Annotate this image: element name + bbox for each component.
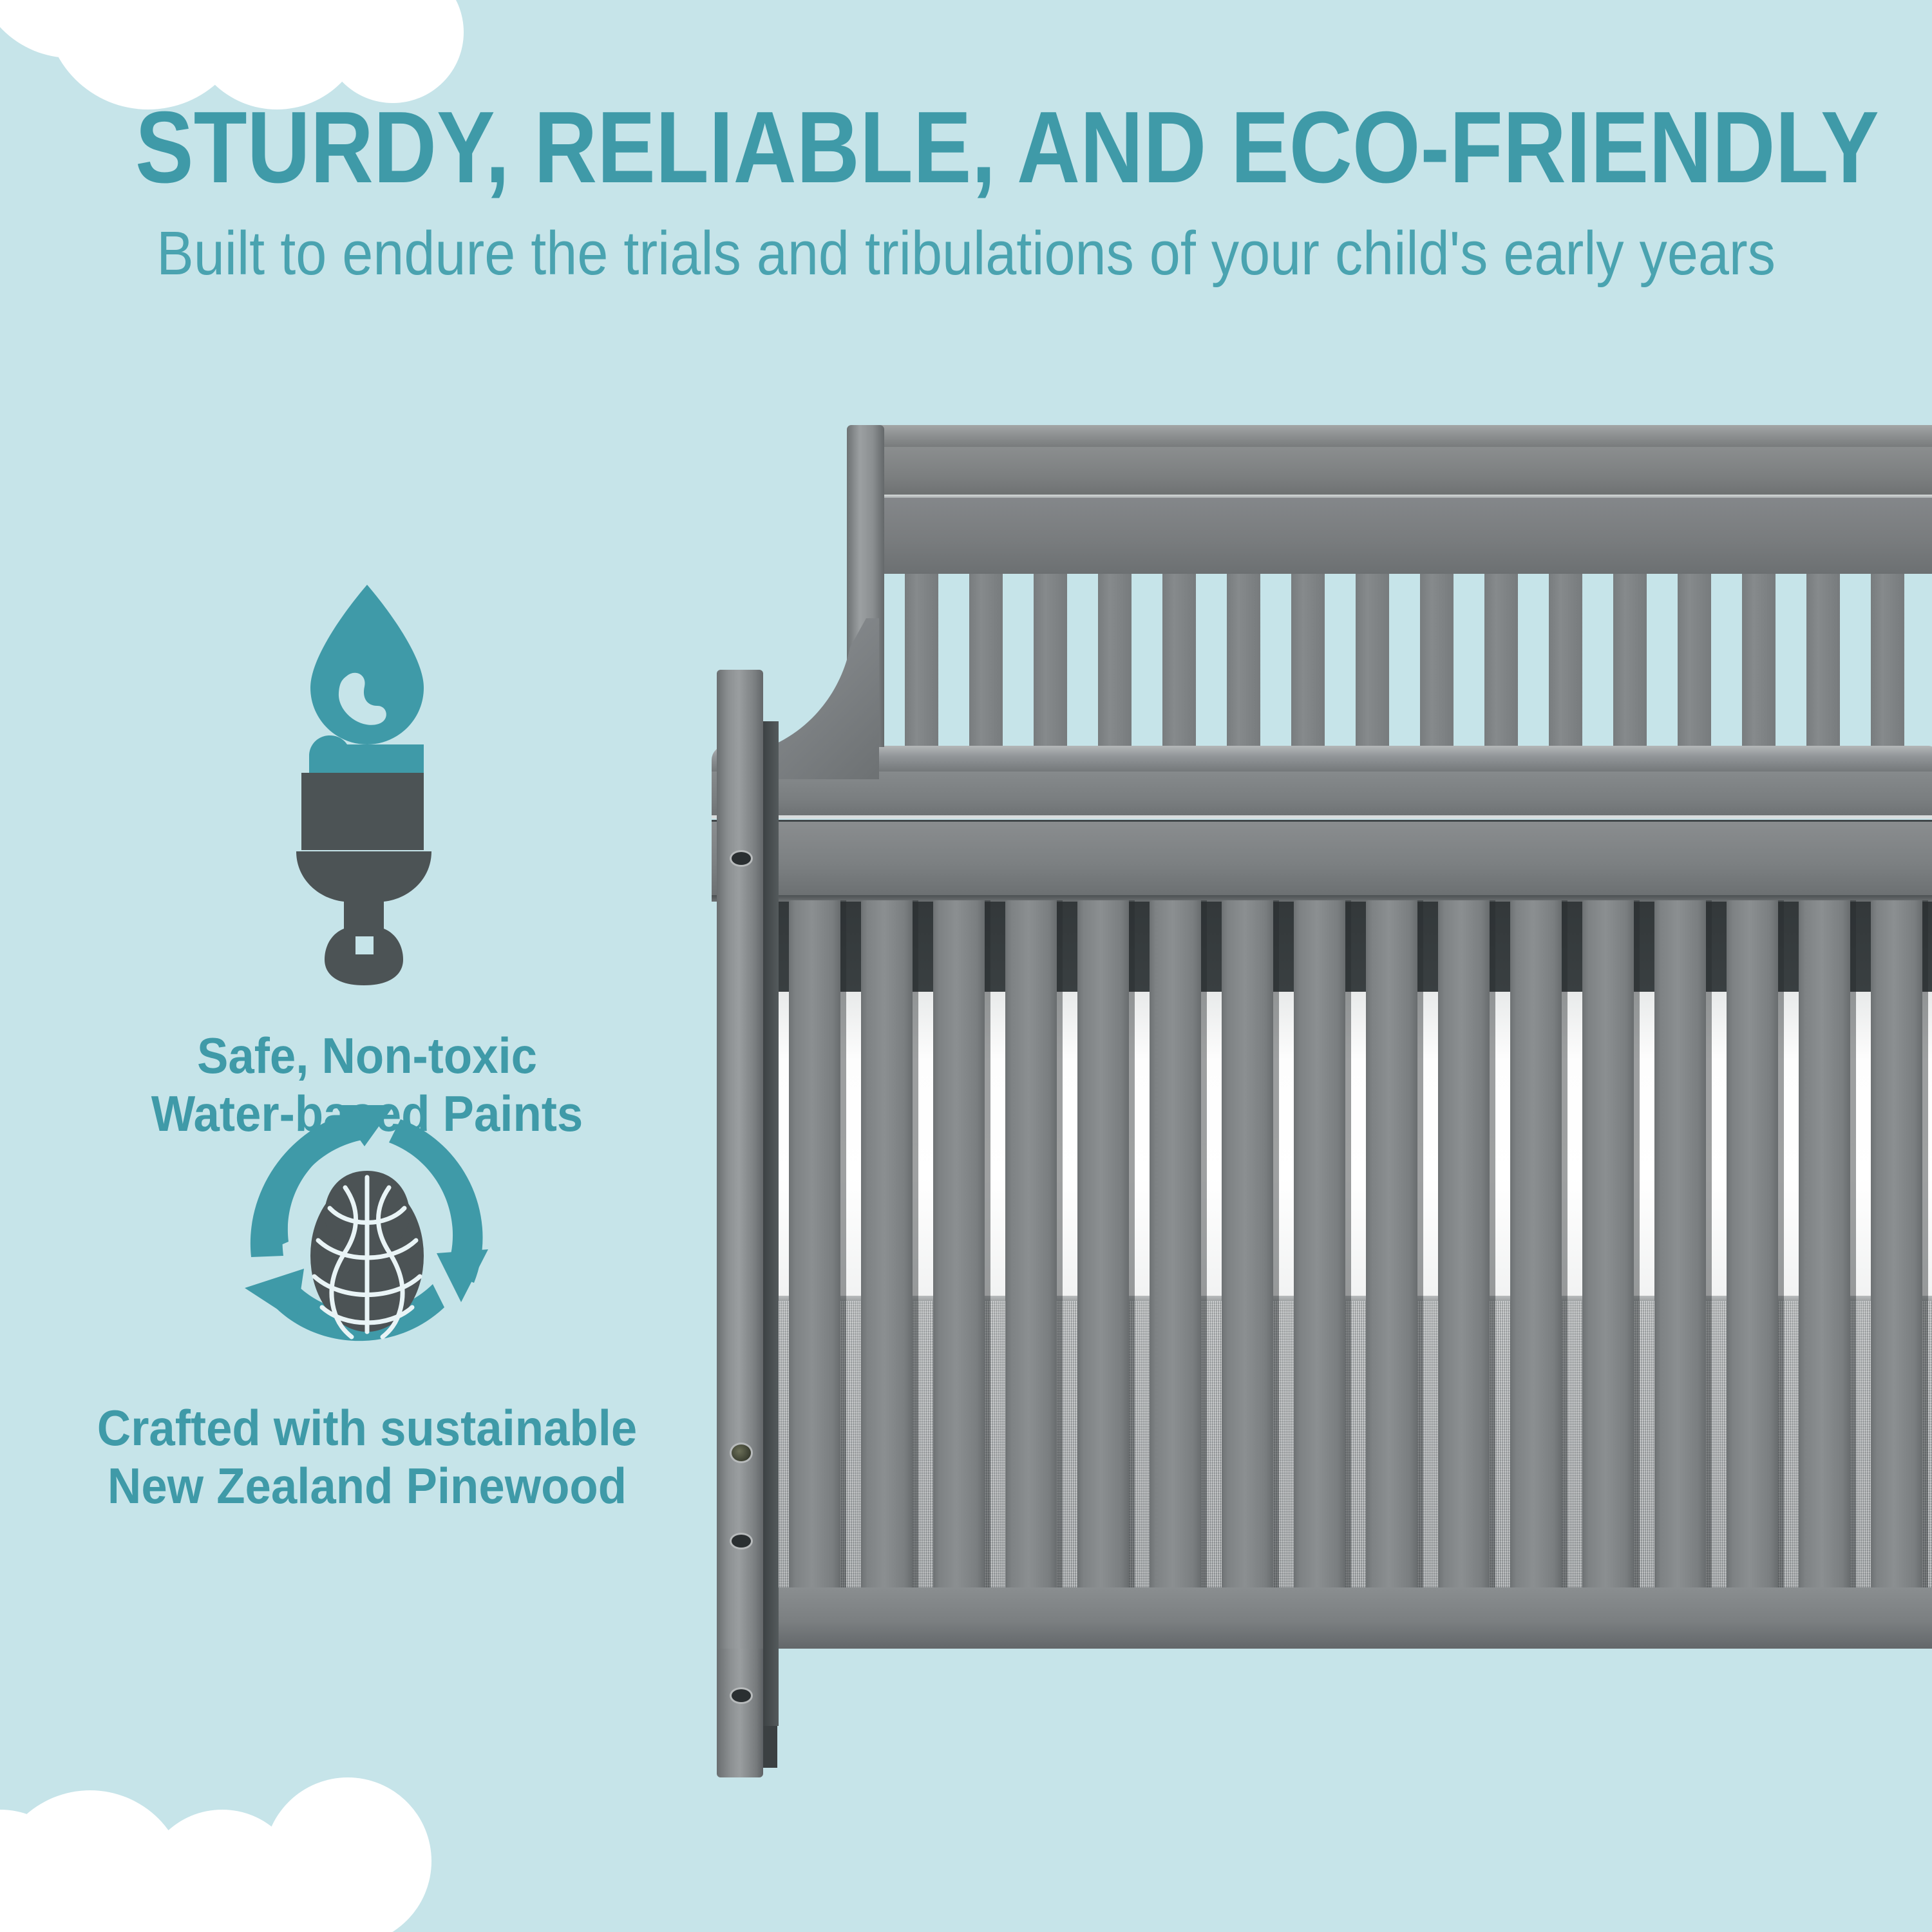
crib-front-slat: [861, 900, 913, 1596]
page-title: STURDY, RELIABLE, AND ECO-FRIENDLY: [135, 97, 1797, 198]
crib-back-slat: [905, 574, 938, 754]
crib-back-slat: [1742, 574, 1776, 754]
crib-front-slat: [1438, 900, 1490, 1596]
crib-back-slat: [1356, 574, 1389, 754]
marketing-image-canvas: STURDY, RELIABLE, AND ECO-FRIENDLY Built…: [0, 0, 1932, 1932]
crib-front-slat: [1582, 900, 1634, 1596]
crib-back-slat: [1227, 574, 1260, 754]
crib-back-slat: [1162, 574, 1196, 754]
cloud-bottom-left-decoration: [0, 1790, 419, 1932]
crib-front-slat: [933, 900, 985, 1596]
crib-front-top-rail-cap: [712, 746, 1932, 774]
crib-front-slat: [1077, 900, 1129, 1596]
recycling-pinecone-icon: [232, 1095, 502, 1365]
crib-back-slat: [1291, 574, 1325, 754]
crib-back-top-rail: [847, 447, 1932, 496]
crib-back-slat: [1678, 574, 1711, 754]
feature-sustainable-pinewood: Crafted with sustainable New Zealand Pin…: [39, 1095, 696, 1515]
paintbrush-with-water-drop-icon: [270, 580, 464, 857]
crib-front-slat: [1799, 900, 1850, 1596]
crib-hardware-hole-icon: [730, 850, 753, 867]
crib-front-slat: [1150, 900, 1201, 1596]
crib-front-slat: [1727, 900, 1778, 1596]
crib-front-left-post: [717, 670, 763, 1777]
crib-back-slat: [1420, 574, 1454, 754]
crib-back-lower-rail: [847, 498, 1932, 574]
crib-front-slat: [1654, 900, 1706, 1596]
crib-bottom-rail: [773, 1587, 1932, 1649]
crib-back-top-cap: [850, 425, 1932, 448]
paintbrush-handle-icon: [270, 851, 464, 987]
crib-product-image: [712, 425, 1932, 1674]
header-text-block: STURDY, RELIABLE, AND ECO-FRIENDLY Built…: [0, 97, 1932, 285]
crib-back-slat: [1806, 574, 1840, 754]
crib-post-inner-edge: [762, 721, 779, 1726]
crib-back-slat: [1098, 574, 1132, 754]
crib-back-slat: [1549, 574, 1582, 754]
page-subtitle: Built to endure the trials and tribulati…: [97, 223, 1835, 285]
crib-front-slat: [789, 900, 840, 1596]
crib-back-slat: [1871, 574, 1904, 754]
crib-front-slat: [1871, 900, 1922, 1596]
crib-hardware-hole-icon: [730, 1687, 753, 1704]
crib-hardware-screw-icon: [730, 1443, 753, 1463]
crib-front-slat: [1222, 900, 1273, 1596]
crib-back-slat: [969, 574, 1003, 754]
crib-front-slat: [1294, 900, 1345, 1596]
crib-front-left-leg: [717, 1649, 763, 1777]
crib-back-slat: [1484, 574, 1518, 754]
crib-front-slat: [1510, 900, 1562, 1596]
crib-hardware-hole-icon: [730, 1533, 753, 1549]
crib-back-slat: [1613, 574, 1647, 754]
crib-back-slat: [1034, 574, 1067, 754]
crib-front-slat: [1005, 900, 1057, 1596]
crib-front-slat: [1366, 900, 1417, 1596]
crib-front-lower-rail: [712, 822, 1932, 898]
crib-front-top-rail: [712, 772, 1932, 818]
crib-front-rail-highlight: [712, 815, 1932, 819]
feature-sustainable-pinewood-label: Crafted with sustainable New Zealand Pin…: [62, 1399, 673, 1515]
feature-safe-paints: Safe, Non-toxic Water-based Paints: [39, 580, 696, 1143]
